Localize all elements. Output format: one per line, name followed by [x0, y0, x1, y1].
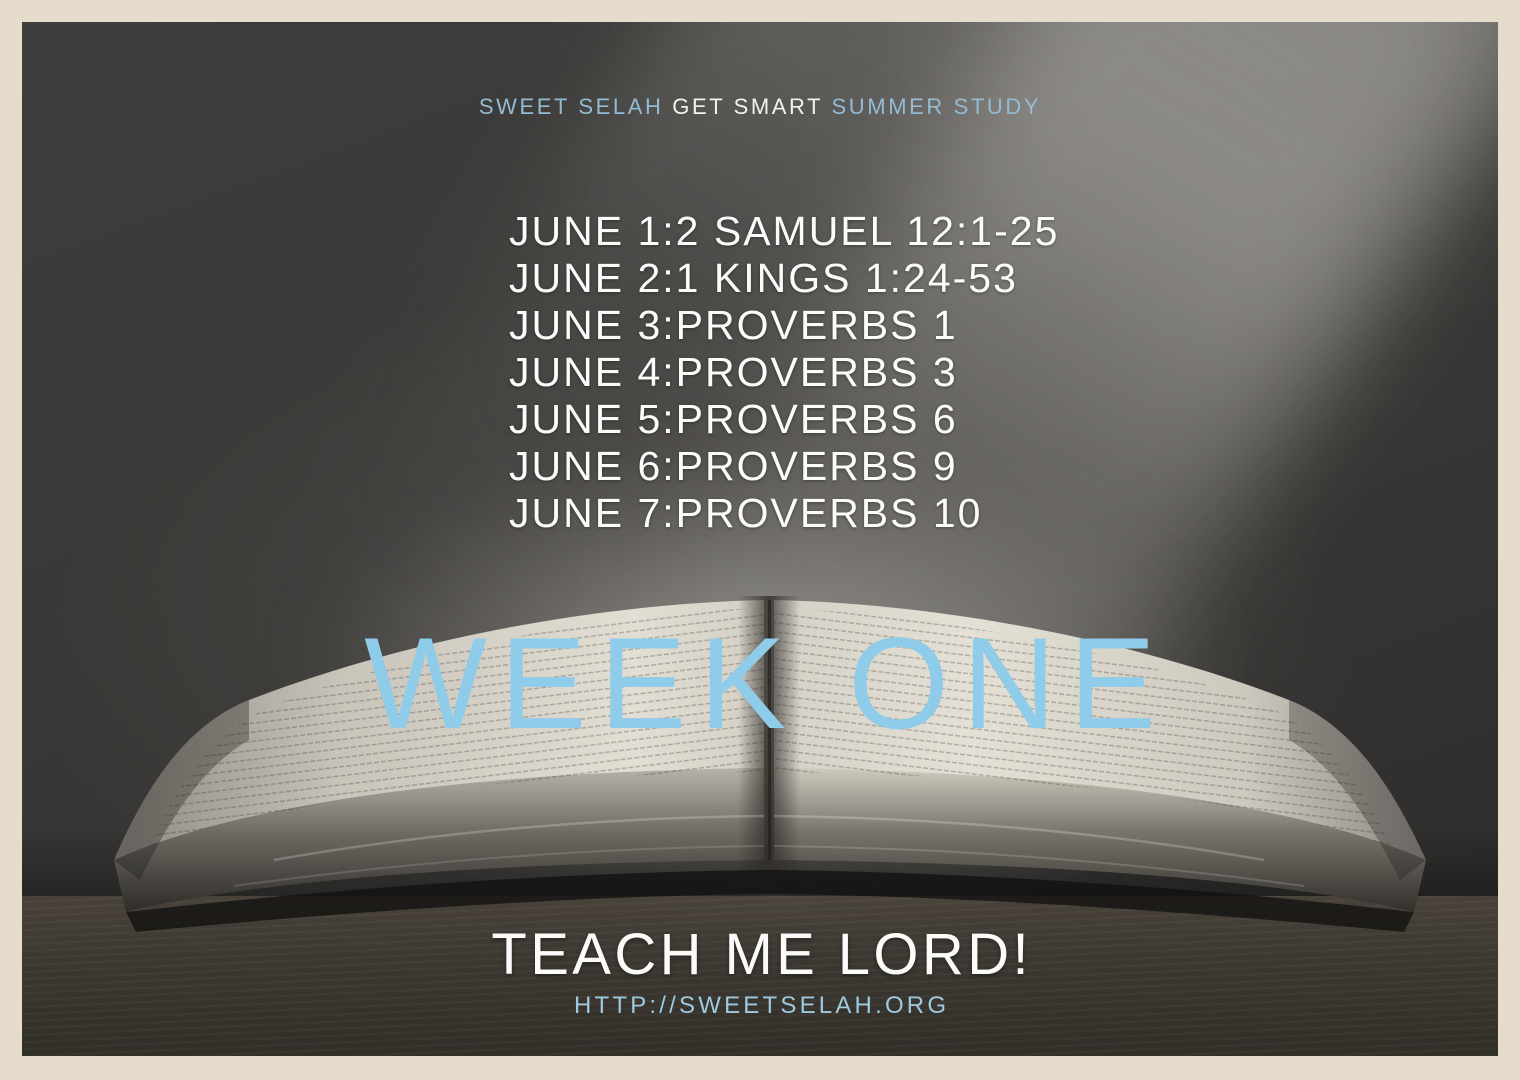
- reading-plan-list: JUNE 1:2 SAMUEL 12:1-25 JUNE 2:1 KINGS 1…: [509, 208, 1059, 537]
- week-title: WEEK ONE: [22, 618, 1498, 748]
- reading-plan-row: JUNE 6:PROVERBS 9: [509, 443, 1059, 490]
- site-url-link[interactable]: HTTP://SWEETSELAH.ORG: [22, 992, 1498, 1020]
- header-brand: SWEET SELAH: [479, 94, 672, 119]
- reading-plan-row: JUNE 2:1 KINGS 1:24-53: [509, 255, 1059, 302]
- poster-canvas: SWEET SELAH GET SMART SUMMER STUDY JUNE …: [22, 22, 1498, 1056]
- reading-plan-row: JUNE 4:PROVERBS 3: [509, 349, 1059, 396]
- poster-frame: SWEET SELAH GET SMART SUMMER STUDY JUNE …: [0, 0, 1520, 1080]
- reading-plan-row: JUNE 3:PROVERBS 1: [509, 302, 1059, 349]
- header-season: SUMMER STUDY: [832, 94, 1042, 119]
- reading-plan-row: JUNE 7:PROVERBS 10: [509, 490, 1059, 537]
- text-layer: SWEET SELAH GET SMART SUMMER STUDY JUNE …: [22, 22, 1498, 1056]
- reading-plan-row: JUNE 1:2 SAMUEL 12:1-25: [509, 208, 1059, 255]
- study-header: SWEET SELAH GET SMART SUMMER STUDY: [22, 94, 1498, 120]
- header-series: GET SMART: [672, 94, 831, 119]
- reading-plan-row: JUNE 5:PROVERBS 6: [509, 396, 1059, 443]
- call-to-action-text: TEACH ME LORD!: [22, 926, 1498, 984]
